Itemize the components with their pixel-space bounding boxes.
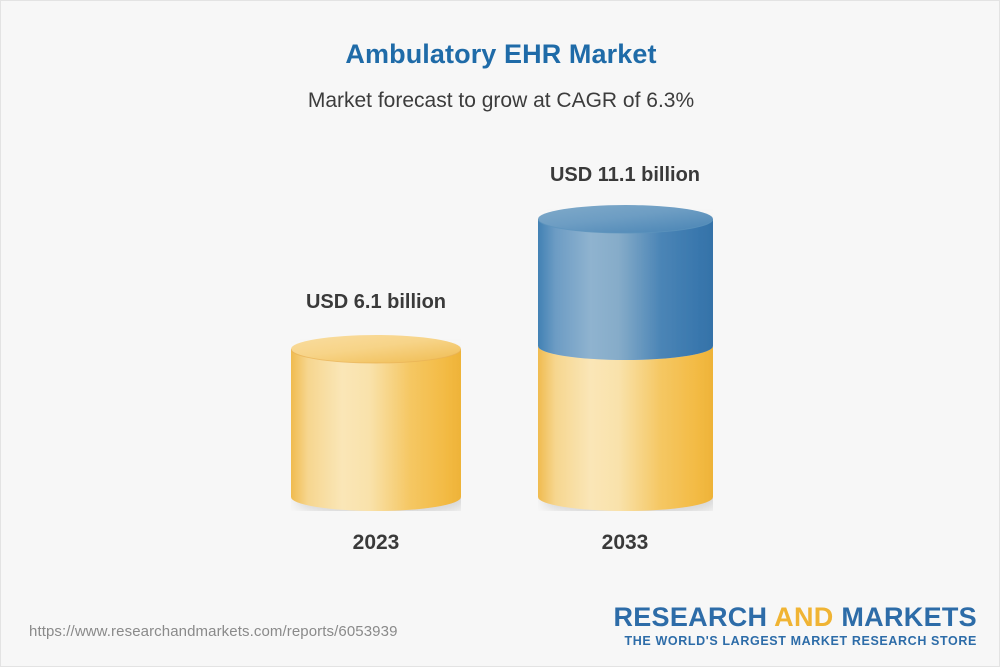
logo-word-and: AND: [774, 602, 833, 632]
source-url[interactable]: https://www.researchandmarkets.com/repor…: [29, 623, 398, 640]
logo-word-research: RESEARCH: [613, 602, 767, 632]
research-and-markets-logo[interactable]: RESEARCH AND MARKETS THE WORLD'S LARGEST…: [613, 603, 977, 648]
infographic-canvas: Ambulatory EHR Market Market forecast to…: [0, 0, 1000, 667]
cylinder-2023-svg: [291, 335, 461, 511]
bar-cylinder-2033: [538, 205, 713, 511]
logo-wordmark: RESEARCH AND MARKETS: [613, 603, 977, 631]
category-label-2033: 2033: [475, 531, 775, 555]
value-label-2033: USD 11.1 billion: [475, 164, 775, 187]
chart-plot-area: USD 6.1 billion USD 11.1 billion: [1, 1, 1000, 667]
logo-tagline: THE WORLD'S LARGEST MARKET RESEARCH STOR…: [613, 634, 977, 648]
cylinder-2033-svg: [538, 205, 713, 511]
bar-cylinder-2023: [291, 335, 461, 511]
logo-word-markets: MARKETS: [841, 602, 977, 632]
value-label-2023: USD 6.1 billion: [226, 291, 526, 314]
